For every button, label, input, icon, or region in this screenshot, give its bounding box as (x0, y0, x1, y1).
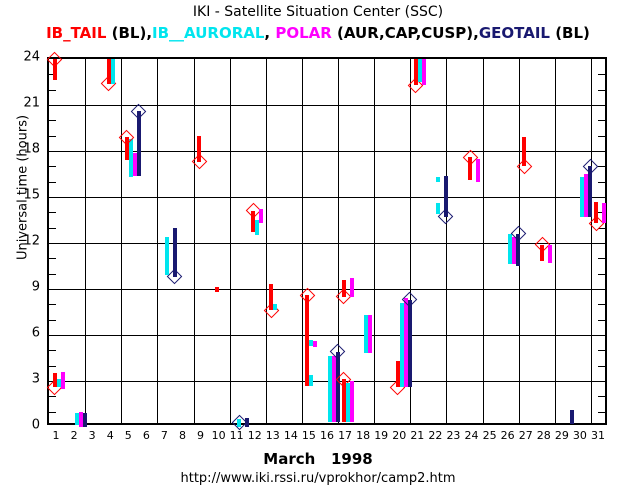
y-minor-tick (598, 320, 606, 321)
y-minor-tick (598, 304, 606, 305)
x-tick-label: 2 (71, 429, 78, 442)
data-bar (602, 203, 606, 223)
h-gridline (49, 289, 605, 290)
v-gridline (194, 59, 195, 423)
v-gridline (266, 59, 267, 423)
y-minor-tick (48, 228, 56, 229)
y-tick-label: 24 (16, 50, 40, 65)
data-bar (548, 245, 552, 263)
x-tick-label: 6 (143, 429, 150, 442)
data-bar (570, 410, 574, 424)
data-bar (368, 315, 372, 353)
v-gridline (157, 59, 158, 423)
x-tick-label: 1 (53, 429, 60, 442)
h-gridline (49, 197, 605, 198)
series-legend-title: IB_TAIL (BL),IB__AURORAL, POLAR (AUR,CAP… (0, 24, 636, 42)
x-tick-label: 15 (302, 429, 316, 442)
y-tick-label: 3 (16, 372, 40, 387)
chart-plot-area (47, 57, 607, 425)
x-tick-label: 28 (537, 429, 551, 442)
data-bar (436, 177, 440, 182)
y-minor-tick (48, 350, 56, 351)
x-tick-label: 30 (573, 429, 587, 442)
data-marker-diamond (47, 51, 63, 67)
x-tick-label: 4 (107, 429, 114, 442)
data-bar (245, 418, 249, 427)
y-minor-tick (598, 350, 606, 351)
v-gridline (230, 59, 231, 423)
y-minor-tick (48, 182, 56, 183)
y-minor-tick (598, 120, 606, 121)
x-tick-label: 27 (519, 429, 533, 442)
y-tick-label: 6 (16, 326, 40, 341)
y-minor-tick (598, 396, 606, 397)
y-minor-tick (48, 258, 56, 259)
y-minor-tick (598, 136, 606, 137)
y-minor-tick (48, 212, 56, 213)
x-tick-label: 26 (501, 429, 515, 442)
legend-series-3: , (264, 24, 275, 42)
data-marker-diamond (167, 269, 183, 285)
data-bar (309, 375, 313, 386)
legend-series-7: (BL) (555, 24, 590, 42)
data-bar (273, 304, 277, 310)
legend-series-2: IB__AURORAL (152, 24, 264, 42)
y-minor-tick (598, 74, 606, 75)
legend-series-1: (BL), (112, 24, 152, 42)
y-axis-title: Universal time (hours) (16, 88, 31, 288)
data-bar (61, 372, 65, 389)
v-gridline (446, 59, 447, 423)
y-minor-tick (48, 366, 56, 367)
x-tick-label: 10 (212, 429, 226, 442)
v-gridline (591, 59, 592, 423)
data-bar (165, 237, 169, 275)
data-bar (436, 203, 440, 214)
y-minor-tick (598, 274, 606, 275)
x-tick-label: 8 (179, 429, 186, 442)
y-minor-tick (598, 412, 606, 413)
h-gridline (49, 335, 605, 336)
data-bar (215, 287, 219, 292)
y-minor-tick (48, 274, 56, 275)
x-tick-label: 12 (248, 429, 262, 442)
data-bar (408, 300, 412, 387)
legend-series-0: IB_TAIL (46, 24, 112, 42)
y-minor-tick (598, 182, 606, 183)
y-minor-tick (48, 90, 56, 91)
source-url-label: http://www.iki.rssi.ru/vprokhor/camp2.ht… (0, 471, 636, 486)
y-minor-tick (48, 136, 56, 137)
y-minor-tick (48, 396, 56, 397)
x-tick-label: 31 (591, 429, 605, 442)
x-tick-label: 17 (338, 429, 352, 442)
x-axis-title: March 1998 (0, 450, 636, 468)
x-tick-label: 16 (320, 429, 334, 442)
y-minor-tick (48, 166, 56, 167)
legend-series-5: (AUR,CAP,CUSP), (337, 24, 479, 42)
x-tick-label: 22 (428, 429, 442, 442)
y-minor-tick (48, 412, 56, 413)
x-tick-label: 19 (374, 429, 388, 442)
data-bar (476, 159, 480, 182)
x-tick-label: 29 (555, 429, 569, 442)
data-marker-diamond (438, 209, 454, 225)
x-axis-tick-labels: 1234567891011121314151617181920212223242… (47, 429, 607, 445)
x-tick-label: 25 (483, 429, 497, 442)
y-minor-tick (598, 166, 606, 167)
data-bar (259, 209, 263, 223)
v-gridline (121, 59, 122, 423)
x-tick-label: 9 (197, 429, 204, 442)
y-minor-tick (48, 304, 56, 305)
v-gridline (374, 59, 375, 423)
y-minor-tick (598, 90, 606, 91)
data-bar (313, 341, 317, 347)
v-gridline (302, 59, 303, 423)
data-marker-diamond (583, 159, 599, 175)
data-bar (422, 59, 426, 85)
legend-series-4: POLAR (275, 24, 337, 42)
chart-grid-and-data (49, 59, 605, 423)
x-tick-label: 3 (89, 429, 96, 442)
x-tick-label: 5 (125, 429, 132, 442)
x-tick-label: 20 (392, 429, 406, 442)
y-tick-label: 0 (16, 418, 40, 433)
page-title: IKI - Satellite Situation Center (SSC) (0, 4, 636, 20)
legend-series-6: GEOTAIL (479, 24, 555, 42)
x-tick-label: 24 (465, 429, 479, 442)
y-minor-tick (48, 120, 56, 121)
v-gridline (555, 59, 556, 423)
y-minor-tick (598, 366, 606, 367)
data-bar (133, 153, 137, 176)
data-bar (350, 381, 354, 422)
data-bar (83, 413, 87, 427)
x-tick-label: 18 (356, 429, 370, 442)
x-tick-label: 23 (446, 429, 460, 442)
y-minor-tick (48, 320, 56, 321)
v-gridline (85, 59, 86, 423)
x-tick-label: 13 (266, 429, 280, 442)
y-minor-tick (598, 258, 606, 259)
x-tick-label: 21 (410, 429, 424, 442)
x-tick-label: 14 (284, 429, 298, 442)
data-bar (137, 111, 141, 175)
data-bar (350, 278, 354, 296)
data-bar (336, 352, 340, 423)
h-gridline (49, 105, 605, 106)
v-gridline (483, 59, 484, 423)
x-tick-label: 11 (230, 429, 244, 442)
data-bar (129, 157, 133, 162)
data-bar (111, 59, 115, 84)
x-tick-label: 7 (161, 429, 168, 442)
h-gridline (49, 243, 605, 244)
